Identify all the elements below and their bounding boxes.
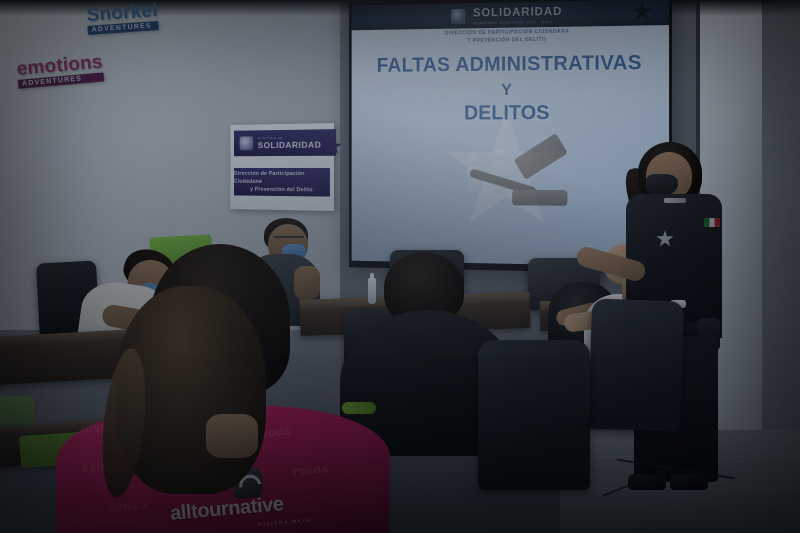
gavel-head-icon xyxy=(514,133,568,180)
police-star-icon xyxy=(388,7,404,25)
attendee-pink-shirt: ODISEA AVENTURA TODOS ODISEA AVENTURA TO… xyxy=(20,340,390,533)
snorkel-logo: Snorkel ADVENTURES xyxy=(86,1,159,35)
mexican-flag-patch-icon xyxy=(704,218,720,227)
banner-line-1: Dirección de Participación Ciudadana xyxy=(234,170,330,186)
shirt-pattern-word: ODISEA xyxy=(108,500,149,514)
slide-municipality: SOLIDARIDAD xyxy=(473,4,562,19)
slide-title: FALTAS ADMINISTRATIVAS Y DELITOS xyxy=(352,51,669,125)
slide-title-line-3: DELITOS xyxy=(352,101,669,125)
glasses-icon xyxy=(274,236,304,244)
snorkel-logo-word: Snorkel xyxy=(86,1,158,25)
doorway xyxy=(762,0,800,470)
screenshot-scene: Snorkel ADVENTURES emotions ADVENTURES S… xyxy=(0,0,800,533)
banner-line-2: y Prevención del Delito xyxy=(250,186,313,195)
neck xyxy=(206,414,258,458)
police-star-right-icon xyxy=(634,2,652,20)
chair xyxy=(478,340,590,490)
municipal-crest-icon xyxy=(452,9,466,24)
banner-crest-icon xyxy=(240,136,253,150)
gavel-block-icon xyxy=(512,190,567,206)
banner-department: Dirección de Participación Ciudadana y P… xyxy=(234,168,330,197)
hands xyxy=(294,266,320,300)
gavel-illustration xyxy=(461,139,584,233)
slide-title-line-1: FALTAS ADMINISTRATIVAS xyxy=(352,51,669,78)
slide-municipality-tagline: GOBIERNO MUNICIPAL 2021 - 2024 xyxy=(473,19,562,25)
shoe xyxy=(670,474,708,490)
banner-municipality: SOLIDARIDAD xyxy=(258,140,322,151)
chair xyxy=(588,298,684,431)
shirt-pattern-word: TODOS xyxy=(292,464,330,478)
slide-title-line-2: Y xyxy=(352,79,669,101)
department-banner: MUNICIPIO DE SOLIDARIDAD Dirección de Pa… xyxy=(230,123,334,211)
epaulette xyxy=(664,198,686,203)
slide-header: SOLIDARIDAD GOBIERNO MUNICIPAL 2021 - 20… xyxy=(352,0,669,30)
banner-header: MUNICIPIO DE SOLIDARIDAD xyxy=(234,129,336,156)
